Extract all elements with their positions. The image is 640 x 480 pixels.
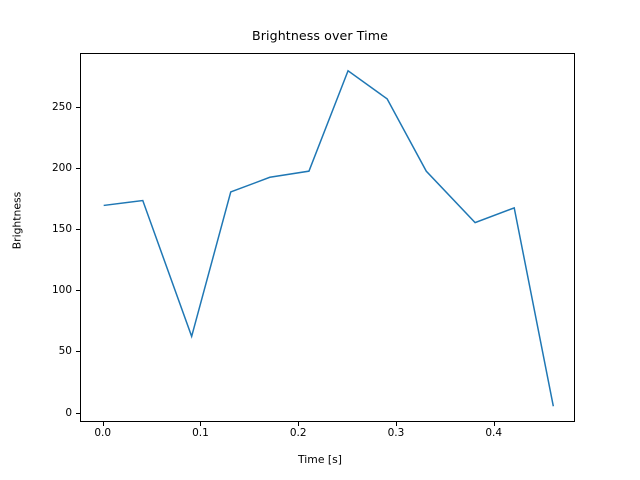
x-axis-label: Time [s]	[0, 453, 640, 466]
x-tick-mark	[200, 422, 201, 426]
matplotlib-figure: Brightness over Time 050100150200250 0.0…	[0, 0, 640, 480]
y-tick-mark	[76, 290, 80, 291]
x-tick-label: 0.1	[192, 427, 209, 439]
x-tick-mark	[396, 422, 397, 426]
y-tick-mark	[76, 351, 80, 352]
x-tick-label: 0.3	[388, 427, 405, 439]
y-tick-mark	[76, 413, 80, 414]
x-tick-label: 0.0	[94, 427, 111, 439]
data-line	[104, 71, 554, 406]
x-tick-label: 0.2	[290, 427, 307, 439]
y-axis-label: Brightness	[11, 121, 24, 321]
x-tick-mark	[494, 422, 495, 426]
plot-area	[80, 53, 575, 422]
y-tick-mark	[76, 168, 80, 169]
y-tick-mark	[76, 229, 80, 230]
x-tick-mark	[298, 422, 299, 426]
line-series-brightness	[81, 54, 576, 423]
x-tick-label: 0.4	[485, 427, 502, 439]
x-tick-mark	[103, 422, 104, 426]
y-tick-mark	[76, 107, 80, 108]
